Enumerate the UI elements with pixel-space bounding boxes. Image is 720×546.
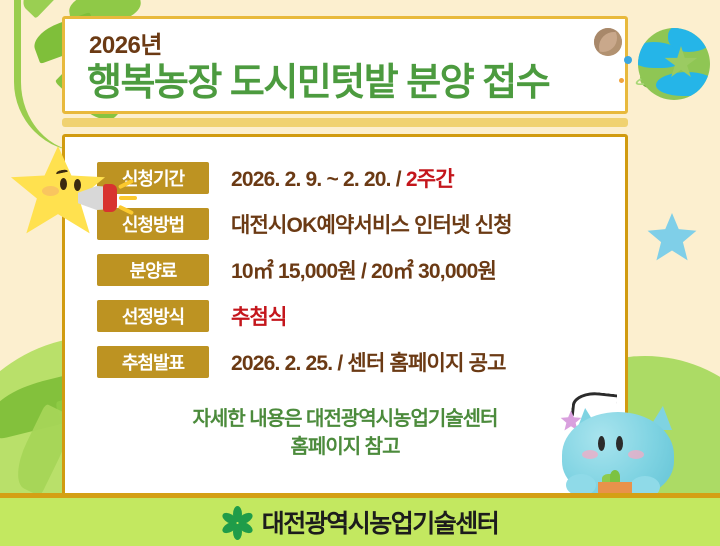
row-value-application-method: 대전시OK예약서비스 인터넷 신청 [231,209,512,239]
footer-organization-name: 대전광역시농업기술센터 [262,504,499,540]
row-label-application-period: 신청기간 [97,162,209,194]
table-row: 신청기간 2026. 2. 9. ~ 2. 20. / 2주간 [97,155,607,201]
row-value-selection-method: 추첨식 [231,301,287,331]
row-value-draw-announcement: 2026. 2. 25. / 센터 홈페이지 공고 [231,347,506,377]
table-row: 선정방식 추첨식 [97,293,607,339]
blue-star-icon [646,212,698,264]
table-row: 분양료 10㎡ 15,000원 / 20㎡ 30,000원 [97,247,607,293]
pinwheel-flower-logo-icon [222,507,252,537]
row-label-draw-announcement: 추첨발표 [97,346,209,378]
table-row: 신청방법 대전시OK예약서비스 인터넷 신청 [97,201,607,247]
row-label-application-method: 신청방법 [97,208,209,240]
poster-canvas: 2026년 행복농장 도시민텃밭 분양 접수 신청기간 2026. 2. 9. … [0,0,720,546]
info-table: 신청기간 2026. 2. 9. ~ 2. 20. / 2주간 신청방법 대전시… [97,155,607,385]
row-label-fee: 분양료 [97,254,209,286]
title-card: 2026년 행복농장 도시민텃밭 분양 접수 [62,16,628,114]
note-text: 자세한 내용은 대전광역시농업기술센터 홈페이지 참고 [65,405,625,462]
row-value-fee: 10㎡ 15,000원 / 20㎡ 30,000원 [231,255,496,285]
page-title: 행복농장 도시민텃밭 분양 접수 [87,51,549,106]
note-line-1: 자세한 내용은 대전광역시농업기술센터 [65,405,625,433]
row-value-text: 2026. 2. 9. ~ 2. 20. / [231,168,406,191]
info-card: 신청기간 2026. 2. 9. ~ 2. 20. / 2주간 신청방법 대전시… [62,134,628,496]
earth-globe-icon [638,28,710,100]
table-row: 추첨발표 2026. 2. 25. / 센터 홈페이지 공고 [97,339,607,385]
footer-bar: 대전광역시농업기술센터 [0,498,720,546]
row-value-accent: 2주간 [406,168,454,191]
title-underbar-decor [62,118,628,127]
note-line-2: 홈페이지 참고 [65,433,625,461]
row-value-application-period: 2026. 2. 9. ~ 2. 20. / 2주간 [231,163,454,193]
saturn-planet-icon [640,66,662,88]
row-label-selection-method: 선정방식 [97,300,209,332]
